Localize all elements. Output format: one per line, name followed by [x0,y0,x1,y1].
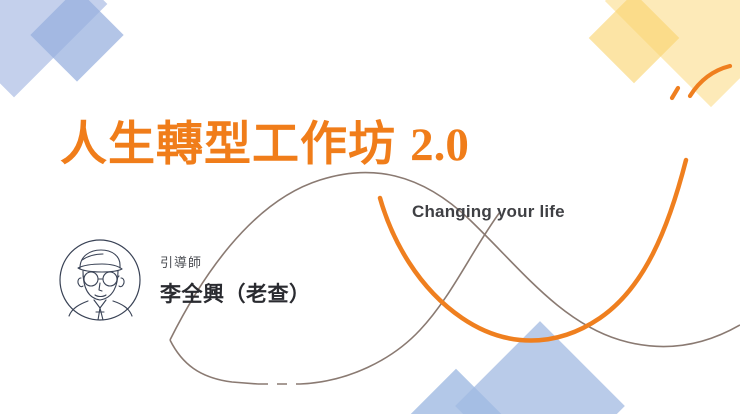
slide-title: 人生轉型工作坊 2.0 [60,117,469,172]
decor-curve-taupe-dip [170,340,258,384]
presenter-block: 引導師 李全興（老查） [58,238,311,322]
slide-title-main: 人生轉型工作坊 [60,117,396,170]
presentation-slide: 人生轉型工作坊 2.0 Changing your life [0,0,740,414]
presenter-name: 李全興（老查） [160,278,311,308]
slide-title-version: 2.0 [410,119,469,171]
decor-curve-orange-main [380,160,686,341]
portrait-line-art-icon [58,238,142,322]
slide-tagline: Changing your life [412,202,565,222]
decor-curve-taupe-rise [300,212,500,384]
presenter-text: 引導師 李全興（老查） [160,252,311,308]
presenter-role-label: 引導師 [160,252,311,271]
decor-arc-orange-dash-2 [672,88,678,98]
